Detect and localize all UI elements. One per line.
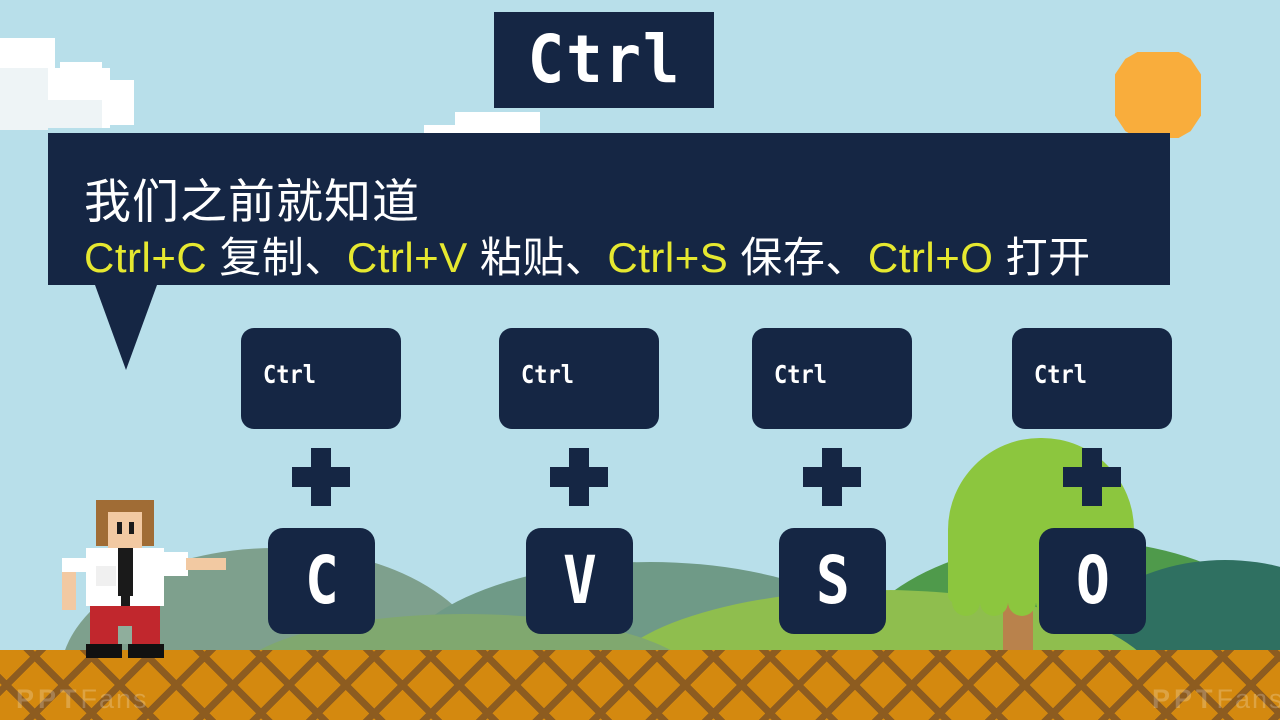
title-key-ctrl: Ctrl <box>494 12 714 108</box>
plus-icon-3 <box>803 448 861 506</box>
banner-subline: Ctrl+C 复制、Ctrl+V 粘贴、Ctrl+S 保存、Ctrl+O 打开 <box>84 224 1091 285</box>
watermark-light: Fans <box>1217 684 1280 714</box>
key-ctrl-1[interactable]: Ctrl <box>241 328 401 429</box>
shortcut-description: 保存、 <box>728 234 868 281</box>
key-ctrl-label: Ctrl <box>1034 362 1087 387</box>
watermark-light: Fans <box>81 684 149 714</box>
character-eye <box>129 522 134 534</box>
character-hair <box>142 512 154 546</box>
character-pants-gap <box>118 626 132 644</box>
shortcut-description: 打开 <box>993 234 1090 281</box>
character-shoe-right <box>128 644 164 658</box>
banner-speech-tail <box>95 285 157 370</box>
shortcut-description: 复制、 <box>207 234 347 281</box>
watermark-left: PPTFans <box>16 684 149 715</box>
character-hand-right <box>186 558 226 570</box>
banner-headline: 我们之前就知道 <box>84 163 420 232</box>
plus-icon-1 <box>292 448 350 506</box>
key-letter-s[interactable]: S <box>779 528 886 634</box>
character-arm-right <box>164 552 188 576</box>
key-ctrl-2[interactable]: Ctrl <box>499 328 659 429</box>
character-arm-left <box>62 558 86 572</box>
tree-scallop <box>952 588 980 616</box>
watermark-bold: PPT <box>1152 684 1217 714</box>
shortcut-description: 粘贴、 <box>468 234 608 281</box>
shortcut-token: Ctrl+C <box>84 234 207 281</box>
plus-icon-4 <box>1063 448 1121 506</box>
key-ctrl-label: Ctrl <box>521 362 574 387</box>
tree-scallop <box>980 588 1008 616</box>
character-shirt-pocket <box>96 566 116 586</box>
cloud-pixel <box>0 100 102 128</box>
key-ctrl-3[interactable]: Ctrl <box>752 328 912 429</box>
character-hair <box>96 500 154 512</box>
shortcut-token: Ctrl+V <box>347 234 468 281</box>
character-tie <box>118 548 133 596</box>
tree-scallop <box>1008 588 1036 616</box>
character-eye <box>117 522 122 534</box>
cloud-pixel <box>455 112 540 126</box>
character-hand-left <box>62 572 76 610</box>
shortcut-token: Ctrl+O <box>868 234 994 281</box>
character-shoe-left <box>86 644 122 658</box>
plus-icon-2 <box>550 448 608 506</box>
key-letter-v[interactable]: V <box>526 528 633 634</box>
ground-strip <box>0 650 1280 720</box>
shortcut-token: Ctrl+S <box>607 234 728 281</box>
cloud-pixel <box>0 38 55 68</box>
key-ctrl-4[interactable]: Ctrl <box>1012 328 1172 429</box>
watermark-right: PPTFans <box>1152 684 1280 715</box>
watermark-bold: PPT <box>16 684 81 714</box>
title-key-label: Ctrl <box>527 27 681 93</box>
slide-canvas: Ctrl 我们之前就知道 Ctrl+C 复制、Ctrl+V 粘贴、Ctrl+S … <box>0 0 1280 720</box>
sun-icon <box>1115 52 1201 138</box>
key-letter-label: C <box>305 548 339 614</box>
key-ctrl-label: Ctrl <box>774 362 827 387</box>
key-letter-label: O <box>1076 548 1110 614</box>
key-letter-o[interactable]: O <box>1039 528 1146 634</box>
cloud-pixel <box>60 62 102 80</box>
ground-chevron-pattern <box>0 650 1280 720</box>
key-letter-label: S <box>816 548 850 614</box>
key-ctrl-label: Ctrl <box>263 362 316 387</box>
key-letter-label: V <box>563 548 597 614</box>
key-letter-c[interactable]: C <box>268 528 375 634</box>
character-hair <box>96 512 108 546</box>
